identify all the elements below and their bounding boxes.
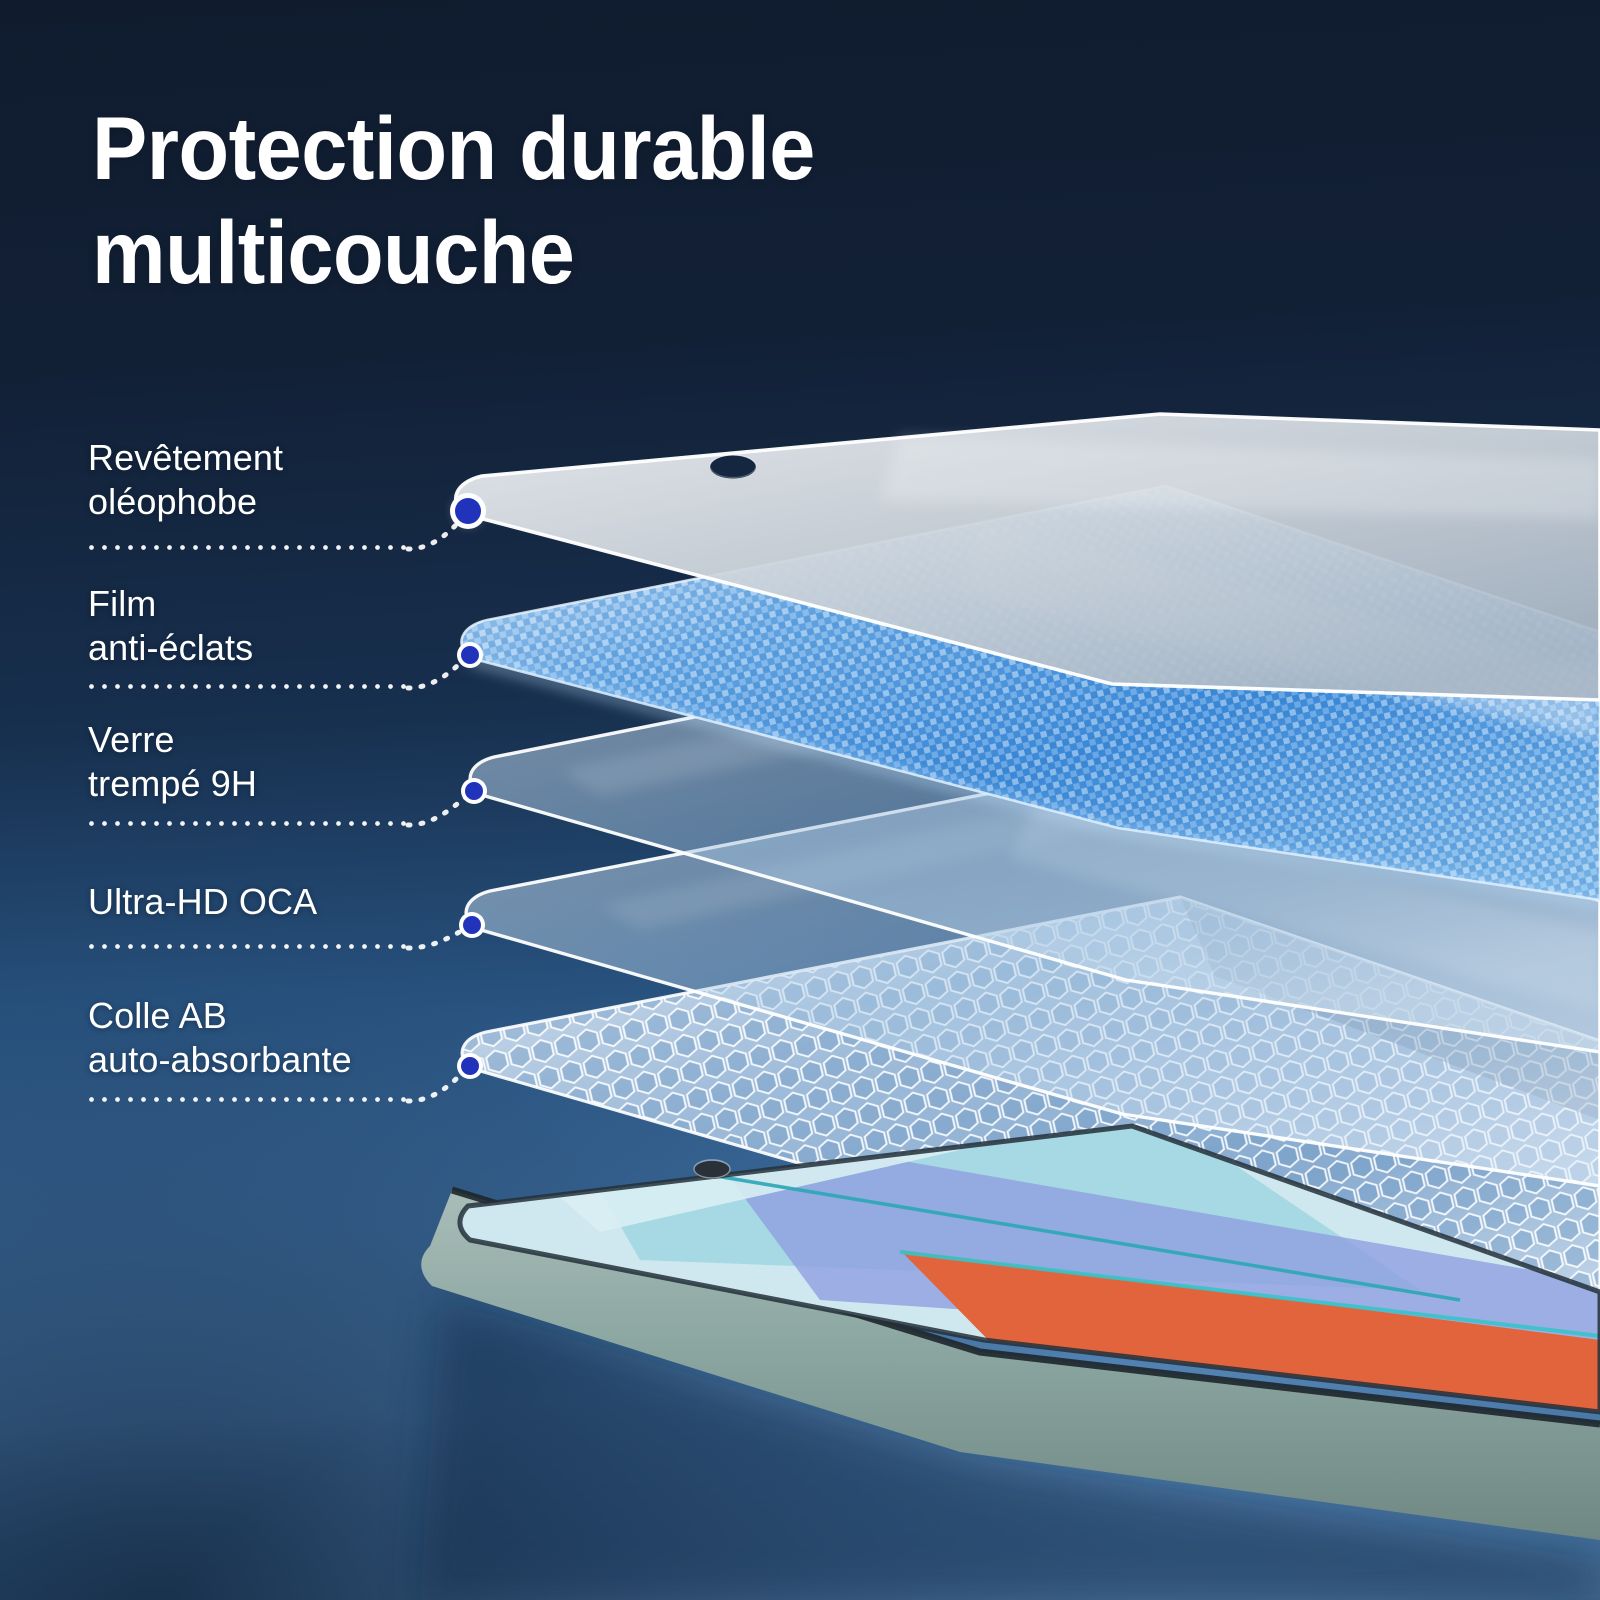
callout-ab-glue: Colle AB auto-absorbante: [88, 994, 508, 1083]
punch-hole-camera-icon: [694, 1161, 730, 1179]
callout-label: Ultra-HD OCA: [88, 880, 508, 924]
leader-line-oleophobic-coating: [88, 544, 408, 551]
callout-anti-shatter-film: Film anti-éclats: [88, 582, 508, 671]
leader-line-tempered-glass-9h: [88, 820, 408, 827]
leader-line-anti-shatter-film: [88, 683, 408, 690]
callout-ultra-hd-oca: Ultra-HD OCA: [88, 880, 508, 924]
leader-line-ab-glue: [88, 1096, 408, 1103]
callout-label: Film anti-éclats: [88, 582, 508, 671]
leader-line-ultra-hd-oca: [88, 943, 408, 950]
infographic-canvas: Protection durable multicouche Revêtemen…: [0, 0, 1600, 1600]
camera-cutout-icon: [710, 456, 756, 479]
callout-label: Verre trempé 9H: [88, 718, 508, 807]
page-title: Protection durable multicouche: [92, 96, 1069, 304]
callout-oleophobic-coating: Revêtement oléophobe: [88, 436, 508, 525]
callout-tempered-glass-9h: Verre trempé 9H: [88, 718, 508, 807]
callout-label: Revêtement oléophobe: [88, 436, 508, 525]
callout-label: Colle AB auto-absorbante: [88, 994, 508, 1083]
